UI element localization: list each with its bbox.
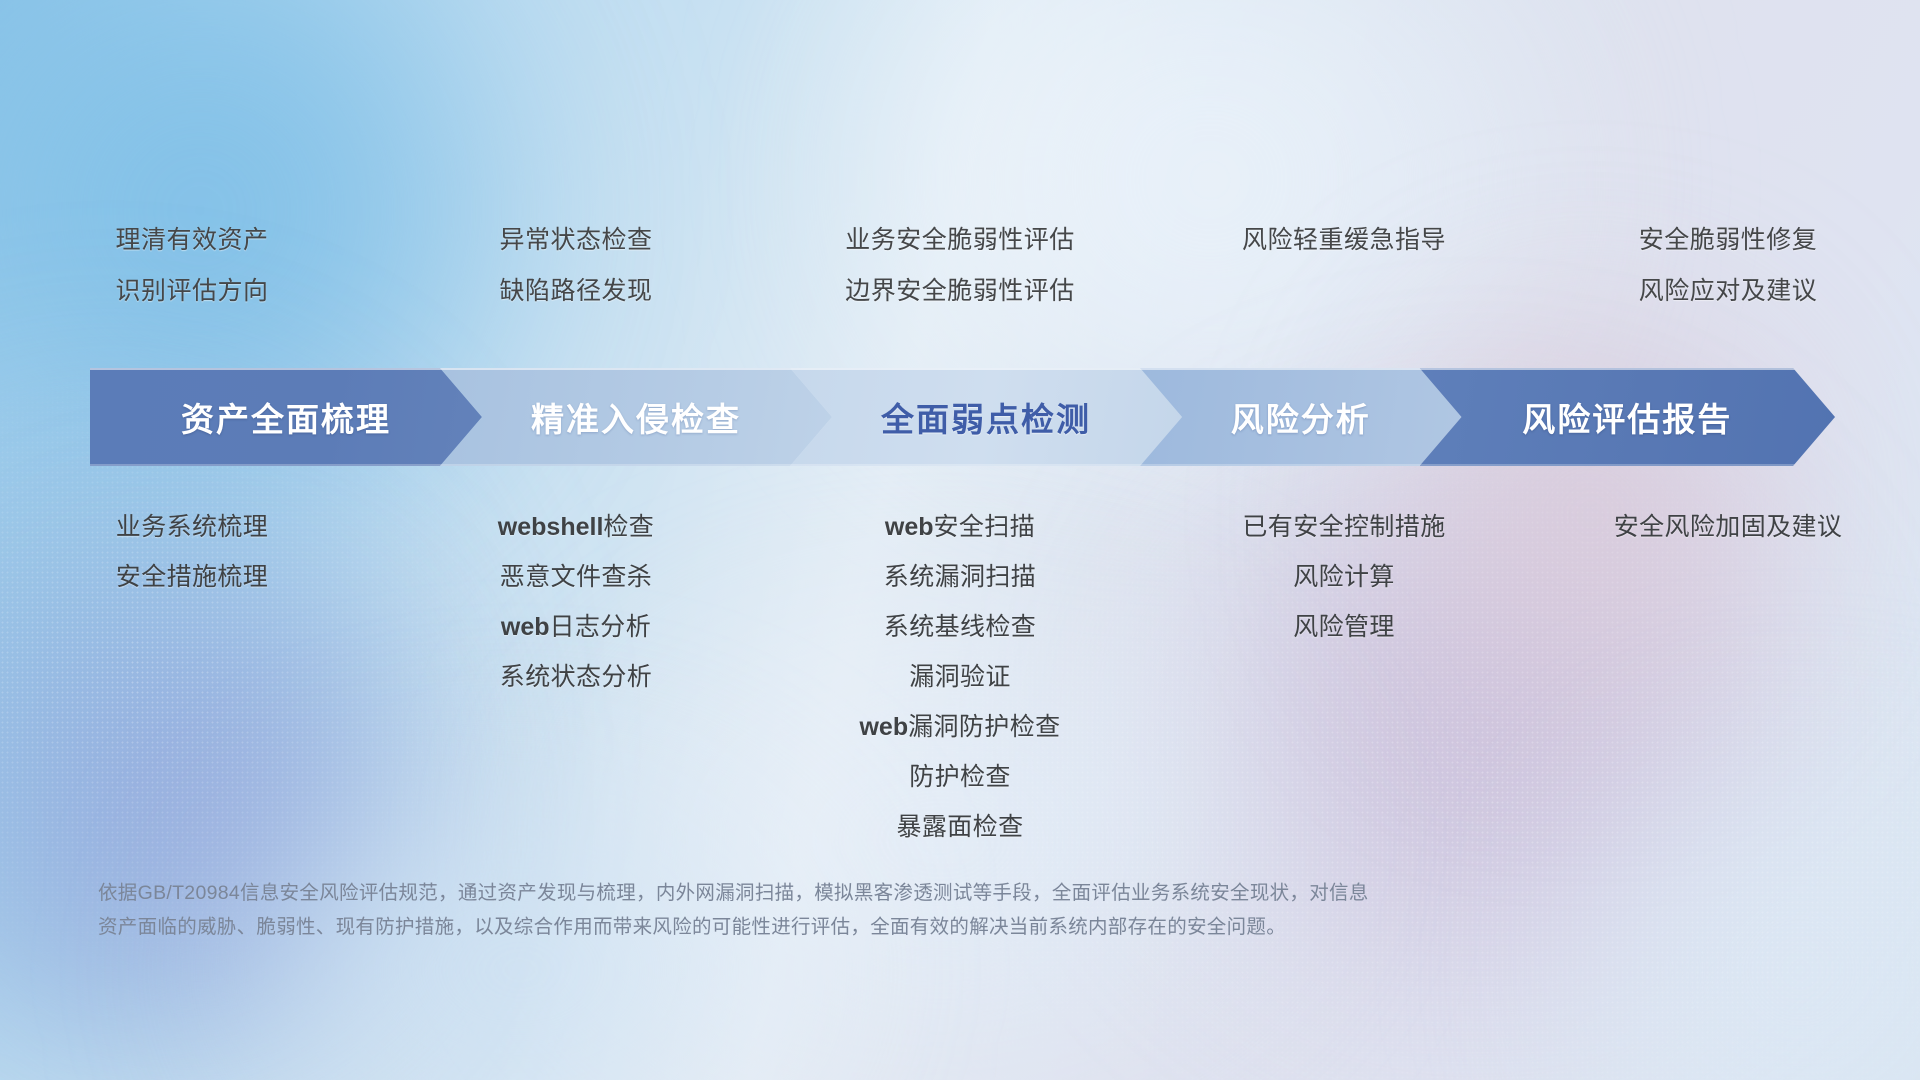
stage-chevron-2[interactable]: 精准入侵检查: [440, 368, 832, 466]
stage-input-item: 业务安全脆弱性评估: [845, 228, 1075, 253]
activity-keyword: webshell: [498, 513, 604, 541]
footer-line-1: 依据GB/T20984信息安全风险评估规范，通过资产发现与梳理，内外网漏洞扫描，…: [98, 876, 1618, 910]
stage-activity-item: web日志分析: [501, 615, 651, 640]
stage-chevron-1[interactable]: 资产全面梳理: [90, 368, 482, 466]
activity-text: 检查: [603, 513, 654, 541]
stage-inputs-3: 业务安全脆弱性评估 边界安全脆弱性评估: [768, 228, 1152, 330]
stage-activity-item: webshell检查: [498, 515, 654, 540]
stage-activities-4: 已有安全控制措施 风险计算 风险管理: [1152, 515, 1536, 865]
activity-keyword: web: [885, 513, 934, 541]
stage-activity-item: 暴露面检查: [896, 815, 1023, 840]
stage-input-item: 风险轻重缓急指导: [1242, 228, 1446, 253]
stage-inputs-4: 风险轻重缓急指导: [1152, 228, 1536, 330]
stage-activity-item: 恶意文件查杀: [500, 565, 652, 590]
stage-input-item: 理清有效资产: [115, 228, 268, 253]
stage-inputs-5: 安全脆弱性修复 风险应对及建议: [1536, 228, 1920, 330]
stage-chevron-5[interactable]: 风险评估报告: [1420, 368, 1836, 466]
footer-description: 依据GB/T20984信息安全风险评估规范，通过资产发现与梳理，内外网漏洞扫描，…: [98, 876, 1618, 944]
activity-text: 安全扫描: [934, 513, 1036, 541]
stage-input-item: 缺陷路径发现: [499, 279, 652, 304]
process-diagram: 理清有效资产 识别评估方向 异常状态检查 缺陷路径发现 业务安全脆弱性评估 边界…: [0, 0, 1920, 1080]
stage-inputs-1: 理清有效资产 识别评估方向: [0, 228, 384, 330]
stage-activity-item: 安全措施梳理: [116, 565, 268, 590]
stage-input-item: 识别评估方向: [115, 279, 268, 304]
stage-input-item: 风险应对及建议: [1639, 279, 1818, 304]
stage-activity-item: 风险管理: [1293, 615, 1395, 640]
footer-line-2: 资产面临的威胁、脆弱性、现有防护措施，以及综合作用而带来风险的可能性进行评估，全…: [98, 910, 1618, 944]
stage-activity-item: 系统状态分析: [500, 665, 652, 690]
stage-activity-item: web漏洞防护检查: [859, 715, 1060, 740]
stage-chevron-3[interactable]: 全面弱点检测: [790, 368, 1182, 466]
stage-chevron-4[interactable]: 风险分析: [1140, 368, 1461, 466]
stage-activity-item: 系统基线检查: [884, 615, 1036, 640]
stage-input-item: 安全脆弱性修复: [1639, 228, 1818, 253]
stage-input-item: 异常状态检查: [499, 228, 652, 253]
stage-title: 精准入侵检查: [531, 393, 741, 441]
stage-activity-item: 防护检查: [909, 765, 1011, 790]
stage-title: 全面弱点检测: [881, 393, 1091, 441]
activity-keyword: web: [501, 613, 550, 641]
stage-inputs-2: 异常状态检查 缺陷路径发现: [384, 228, 768, 330]
activity-text: 日志分析: [550, 613, 652, 641]
activity-text: 漏洞防护检查: [908, 713, 1060, 741]
stage-activity-item: web安全扫描: [885, 515, 1035, 540]
stage-activities-3: web安全扫描 系统漏洞扫描 系统基线检查 漏洞验证 web漏洞防护检查 防护检…: [768, 515, 1152, 865]
stage-activities-row: 业务系统梳理 安全措施梳理 webshell检查 恶意文件查杀 web日志分析 …: [0, 515, 1920, 865]
stage-activity-item: 风险计算: [1293, 565, 1395, 590]
stage-activity-item: 漏洞验证: [909, 665, 1011, 690]
stage-activity-item: 系统漏洞扫描: [884, 565, 1036, 590]
stage-title: 风险评估报告: [1522, 393, 1732, 441]
stage-activity-item: 安全风险加固及建议: [1614, 515, 1843, 540]
stage-chevron-band: 资产全面梳理 精准入侵检查 全面弱点检测 风险分析 风险评估报告: [90, 368, 1835, 466]
stage-inputs-row: 理清有效资产 识别评估方向 异常状态检查 缺陷路径发现 业务安全脆弱性评估 边界…: [0, 228, 1920, 330]
stage-title: 资产全面梳理: [181, 393, 391, 441]
stage-activities-5: 安全风险加固及建议: [1536, 515, 1920, 865]
stage-activities-1: 业务系统梳理 安全措施梳理: [0, 515, 384, 865]
stage-activity-item: 业务系统梳理: [116, 515, 268, 540]
stage-title: 风险分析: [1231, 393, 1371, 441]
stage-input-item: 边界安全脆弱性评估: [845, 279, 1075, 304]
activity-keyword: web: [859, 713, 908, 741]
stage-activities-2: webshell检查 恶意文件查杀 web日志分析 系统状态分析: [384, 515, 768, 865]
stage-activity-item: 已有安全控制措施: [1242, 515, 1445, 540]
